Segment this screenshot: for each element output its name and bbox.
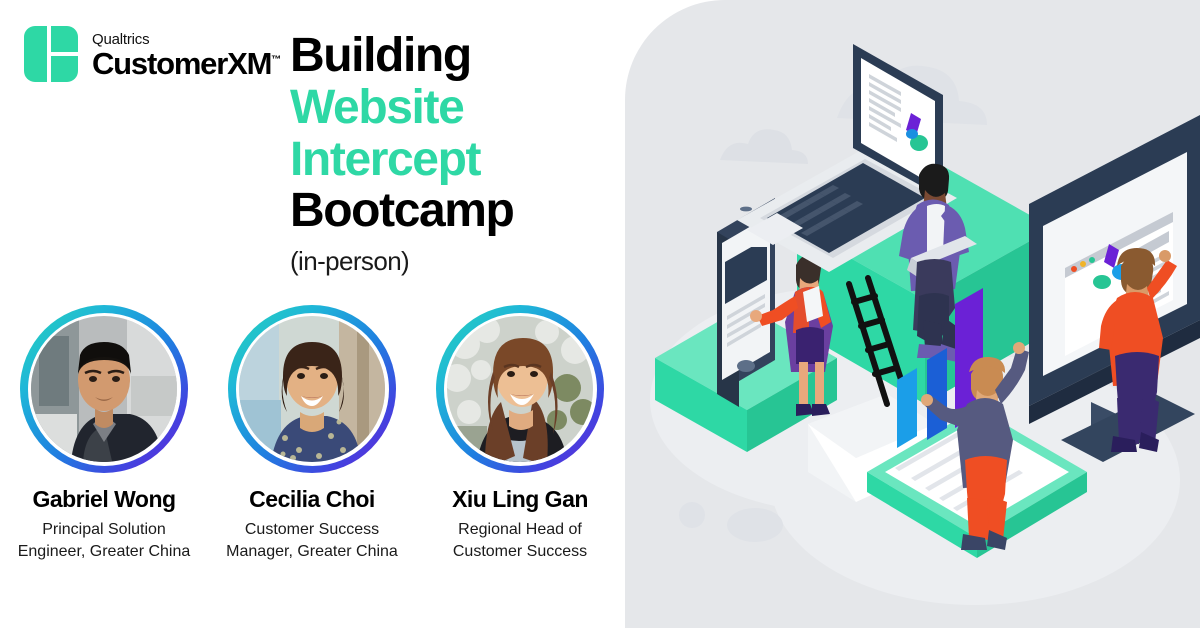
speaker-title: Regional Head of Customer Success	[433, 519, 608, 562]
avatar-xiu-ling-gan	[447, 316, 593, 462]
avatar-inner	[28, 313, 181, 466]
speaker-list: Gabriel Wong Principal Solution Engineer…	[0, 305, 625, 562]
avatar-ring	[20, 305, 188, 473]
qualtrics-logo-mark-icon	[24, 26, 78, 82]
speaker-name: Cecilia Choi	[249, 486, 375, 513]
bar-2-blue	[927, 348, 947, 440]
illustration-panel	[625, 0, 1200, 628]
avatar-cecilia-choi	[239, 316, 385, 462]
logo-shape-left	[24, 26, 47, 82]
brand-product-text: CustomerXM	[92, 46, 271, 81]
avatar-inner	[444, 313, 597, 466]
floor-dot-large	[727, 508, 783, 542]
brand-lockup: Qualtrics CustomerXM™	[24, 26, 281, 82]
brand-name-qualtrics: Qualtrics	[92, 32, 281, 47]
floor-dot-small	[679, 502, 705, 528]
logo-shape-bottom-right	[51, 56, 78, 82]
title-subtitle: (in-person)	[290, 246, 610, 277]
title-line-4: Bootcamp	[290, 185, 610, 237]
isometric-illustration	[625, 0, 1200, 628]
logo-shape-top-right	[51, 26, 78, 52]
event-title-block: Building Website Intercept Bootcamp (in-…	[290, 30, 610, 277]
avatar-ring	[436, 305, 604, 473]
bar-1-blue-light	[897, 368, 917, 448]
trademark-symbol: ™	[271, 54, 281, 65]
poster-canvas: Qualtrics CustomerXM™ Building Website I…	[0, 0, 1200, 628]
avatar-ring	[228, 305, 396, 473]
title-line-1: Building	[290, 30, 610, 82]
speaker-card: Cecilia Choi Customer Success Manager, G…	[208, 305, 416, 562]
monitor-chart-circle-green	[1093, 275, 1111, 289]
speaker-name: Gabriel Wong	[32, 486, 175, 513]
speaker-card: Gabriel Wong Principal Solution Engineer…	[0, 305, 208, 562]
avatar-gabriel-wong	[31, 316, 177, 462]
avatar-inner	[236, 313, 389, 466]
title-line-3: Intercept	[290, 134, 610, 186]
brand-wordmark: Qualtrics CustomerXM™	[92, 30, 281, 79]
speaker-title: Customer Success Manager, Greater China	[225, 519, 400, 562]
speaker-name: Xiu Ling Gan	[452, 486, 588, 513]
title-line-2: Website	[290, 82, 610, 134]
brand-product-customerxm: CustomerXM™	[92, 48, 281, 79]
speaker-title: Principal Solution Engineer, Greater Chi…	[17, 519, 192, 562]
speaker-card: Xiu Ling Gan Regional Head of Customer S…	[416, 305, 624, 562]
